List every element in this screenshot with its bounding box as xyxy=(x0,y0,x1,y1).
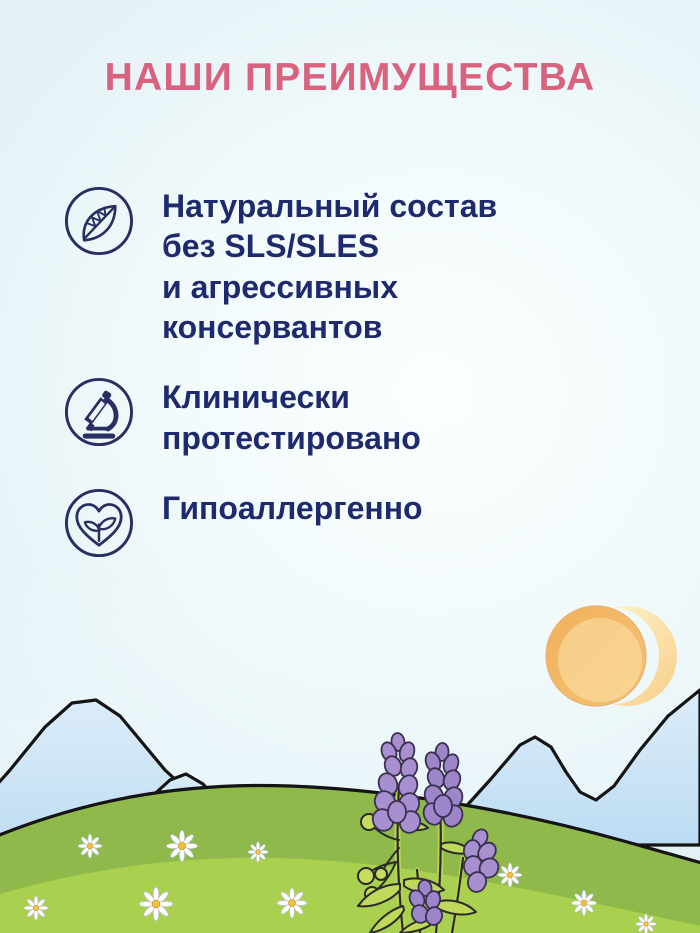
microscope-circle-icon xyxy=(62,375,136,449)
heart-sprout-circle-icon xyxy=(62,486,136,560)
benefit-item-natural-composition: Натуральный состав без SLS/SLES и агресс… xyxy=(62,182,662,347)
front-hill xyxy=(0,858,700,933)
poster-root: НАШИ ПРЕИМУЩЕСТВА Натуральный состав без… xyxy=(0,0,700,933)
benefit-label: Натуральный состав без SLS/SLES и агресс… xyxy=(162,182,662,347)
lavender-plant xyxy=(358,732,502,933)
benefit-item-hypoallergenic: Гипоаллергенно xyxy=(62,484,662,560)
back-hill xyxy=(0,785,700,933)
left-small-peak xyxy=(148,774,238,824)
left-mountain-peak xyxy=(0,700,268,860)
benefit-label: Клинически протестировано xyxy=(162,373,662,458)
benefit-item-clinically-tested: Клинически протестировано xyxy=(62,373,662,458)
leaf-circle-icon xyxy=(62,184,136,258)
benefit-label: Гипоаллергенно xyxy=(162,484,662,528)
daisy-cluster xyxy=(24,830,656,933)
right-mountain-peak xyxy=(442,690,700,845)
sun-icon xyxy=(546,606,677,706)
benefits-list: Натуральный состав без SLS/SLES и агресс… xyxy=(62,182,662,586)
page-title: НАШИ ПРЕИМУЩЕСТВА xyxy=(0,57,700,100)
